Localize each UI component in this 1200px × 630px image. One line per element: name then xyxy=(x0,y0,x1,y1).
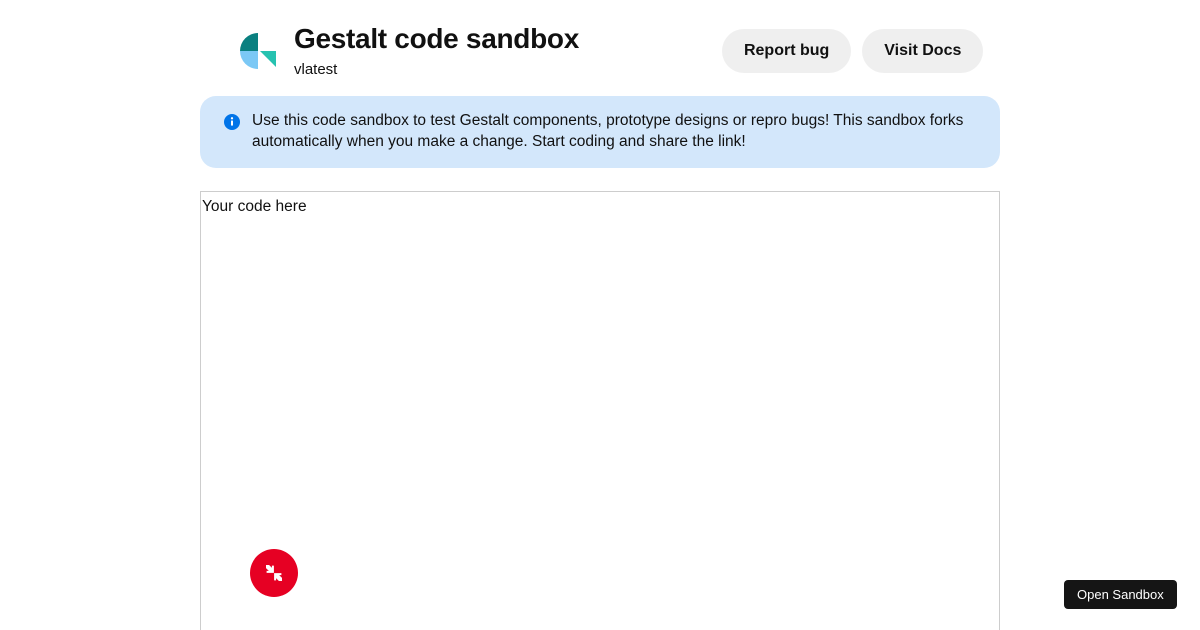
title-block: Gestalt code sandbox vlatest xyxy=(294,22,579,80)
page-title: Gestalt code sandbox xyxy=(294,22,579,56)
version-label: vlatest xyxy=(294,60,579,80)
report-bug-button[interactable]: Report bug xyxy=(722,29,851,73)
info-banner-text: Use this code sandbox to test Gestalt co… xyxy=(252,110,974,152)
page-header: Gestalt code sandbox vlatest Report bug … xyxy=(200,0,1000,96)
code-editor-content[interactable]: Your code here xyxy=(201,192,999,217)
page-container: Gestalt code sandbox vlatest Report bug … xyxy=(200,0,1000,630)
gestalt-pie-logo-icon xyxy=(238,31,278,71)
visit-docs-button[interactable]: Visit Docs xyxy=(862,29,983,73)
info-circle-icon xyxy=(224,114,240,130)
code-editor[interactable]: Your code here xyxy=(200,191,1000,630)
brand: Gestalt code sandbox vlatest xyxy=(200,22,579,80)
open-sandbox-button[interactable]: Open Sandbox xyxy=(1064,580,1177,609)
info-banner: Use this code sandbox to test Gestalt co… xyxy=(200,96,1000,168)
collapse-inward-icon xyxy=(262,561,286,585)
header-actions: Report bug Visit Docs xyxy=(722,29,983,73)
collapse-fab-button[interactable] xyxy=(250,549,298,597)
